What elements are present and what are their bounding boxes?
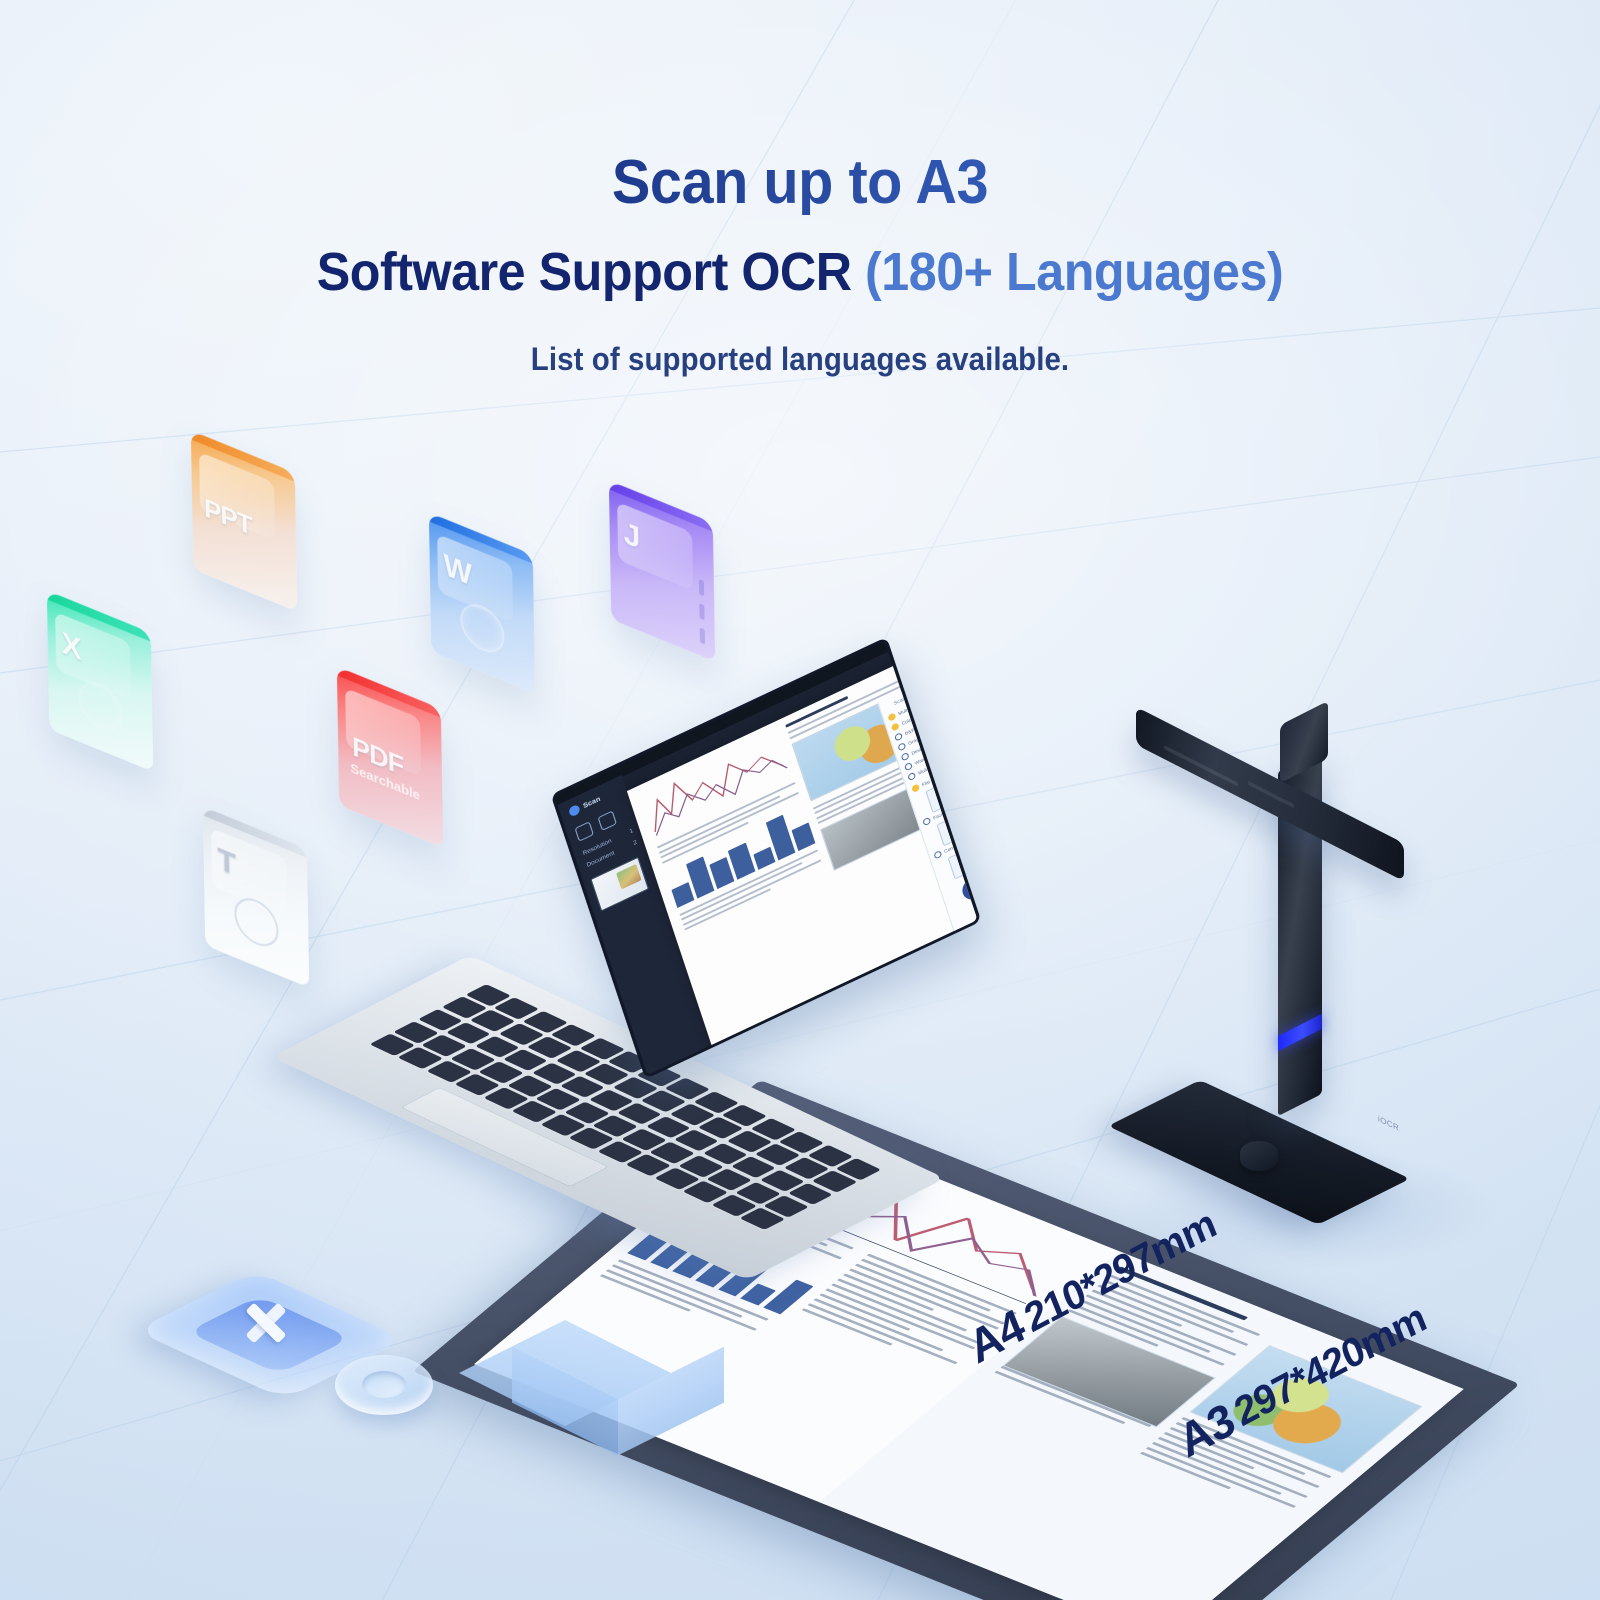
scanner-knob[interactable] bbox=[1240, 1141, 1278, 1171]
facing-pages-glyph: ▦ bbox=[948, 822, 960, 836]
subtitle-ocr: Software Support OCR (180+ Languages) bbox=[56, 243, 1544, 301]
ring-hole bbox=[362, 1371, 406, 1398]
thumbnail-map-icon bbox=[616, 864, 641, 890]
txt-format-card: T bbox=[204, 828, 308, 966]
ppt-card-face: PPT bbox=[191, 430, 297, 611]
laptop-screen: Scan Resolution 1 Document 2 bbox=[551, 637, 982, 1079]
jpg-format-card: J bbox=[610, 502, 714, 640]
single-page-glyph: ▤ bbox=[937, 789, 949, 803]
excel-format-card: X bbox=[48, 612, 152, 750]
arm-vent-1 bbox=[1164, 745, 1238, 787]
excel-card-face: X bbox=[47, 590, 153, 771]
subtitle-ocr-accent: (180+ Languages) bbox=[865, 242, 1283, 302]
jpg-card-glyph: J bbox=[623, 516, 639, 557]
glass-cube bbox=[512, 1320, 662, 1455]
logo-mark-icon bbox=[568, 804, 581, 818]
supporting-text: List of supported languages available. bbox=[64, 341, 1536, 378]
panel-option-label: B&W bbox=[904, 727, 916, 736]
radio-icon bbox=[901, 752, 910, 762]
combine-scan-glyph: ▥ bbox=[959, 856, 971, 870]
sidebar-row-value: 2 bbox=[633, 840, 638, 847]
txt-card-glyph: T bbox=[217, 842, 235, 883]
radio-icon bbox=[933, 850, 942, 860]
radio-icon bbox=[907, 772, 916, 782]
app-name: Scan bbox=[582, 795, 601, 809]
app-logo: Scan bbox=[568, 794, 602, 817]
star-icon bbox=[911, 783, 920, 793]
grid-icon[interactable] bbox=[598, 810, 618, 831]
scan-action-button[interactable]: ⟳ bbox=[959, 873, 981, 903]
scan-refresh-icon: ⟳ bbox=[968, 882, 979, 895]
pdf-format-card: PDF Searchable bbox=[338, 688, 442, 826]
glass-ring bbox=[335, 1355, 433, 1415]
scan-mode-option[interactable]: Flat Single Page bbox=[911, 764, 962, 793]
subtitle-ocr-main: Software Support OCR bbox=[317, 242, 865, 302]
laptop-device: Scan Resolution 1 Document 2 bbox=[470, 700, 990, 1170]
panel-option-label: Deskew bbox=[911, 744, 929, 756]
powerpoint-format-card: PPT bbox=[192, 452, 296, 590]
headline-block: Scan up to A3 Software Support OCR (180+… bbox=[0, 150, 1600, 378]
radio-icon bbox=[904, 762, 913, 772]
radio-icon bbox=[897, 742, 906, 752]
star-icon bbox=[891, 722, 900, 732]
word-card-face: W bbox=[429, 512, 535, 693]
scanner-camera-arm bbox=[1136, 707, 1404, 882]
jpg-card-dash-1 bbox=[699, 579, 704, 596]
sidebar-row-value: 1 bbox=[629, 828, 634, 835]
star-icon bbox=[887, 712, 896, 722]
radio-icon bbox=[922, 817, 931, 827]
jpg-card-face: J bbox=[609, 480, 715, 661]
radio-icon bbox=[894, 732, 903, 742]
document-icon[interactable] bbox=[575, 821, 595, 842]
txt-card-face: T bbox=[203, 806, 309, 987]
arm-vent-2 bbox=[1248, 781, 1294, 808]
page-title: Scan up to A3 bbox=[56, 150, 1544, 215]
panel-option-label: Color bbox=[901, 717, 913, 727]
glass-plus-tile bbox=[195, 1275, 345, 1395]
document-scanner bbox=[1130, 705, 1470, 1225]
pdf-card-face: PDF Searchable bbox=[337, 666, 443, 847]
promo-image-canvas: Scan up to A3 Software Support OCR (180+… bbox=[0, 0, 1600, 1600]
jpg-card-dash-2 bbox=[699, 603, 704, 620]
panel-option[interactable]: Multi-Enhance bbox=[887, 693, 938, 722]
word-format-card: W bbox=[430, 534, 534, 672]
jpg-card-dash-3 bbox=[700, 627, 705, 644]
